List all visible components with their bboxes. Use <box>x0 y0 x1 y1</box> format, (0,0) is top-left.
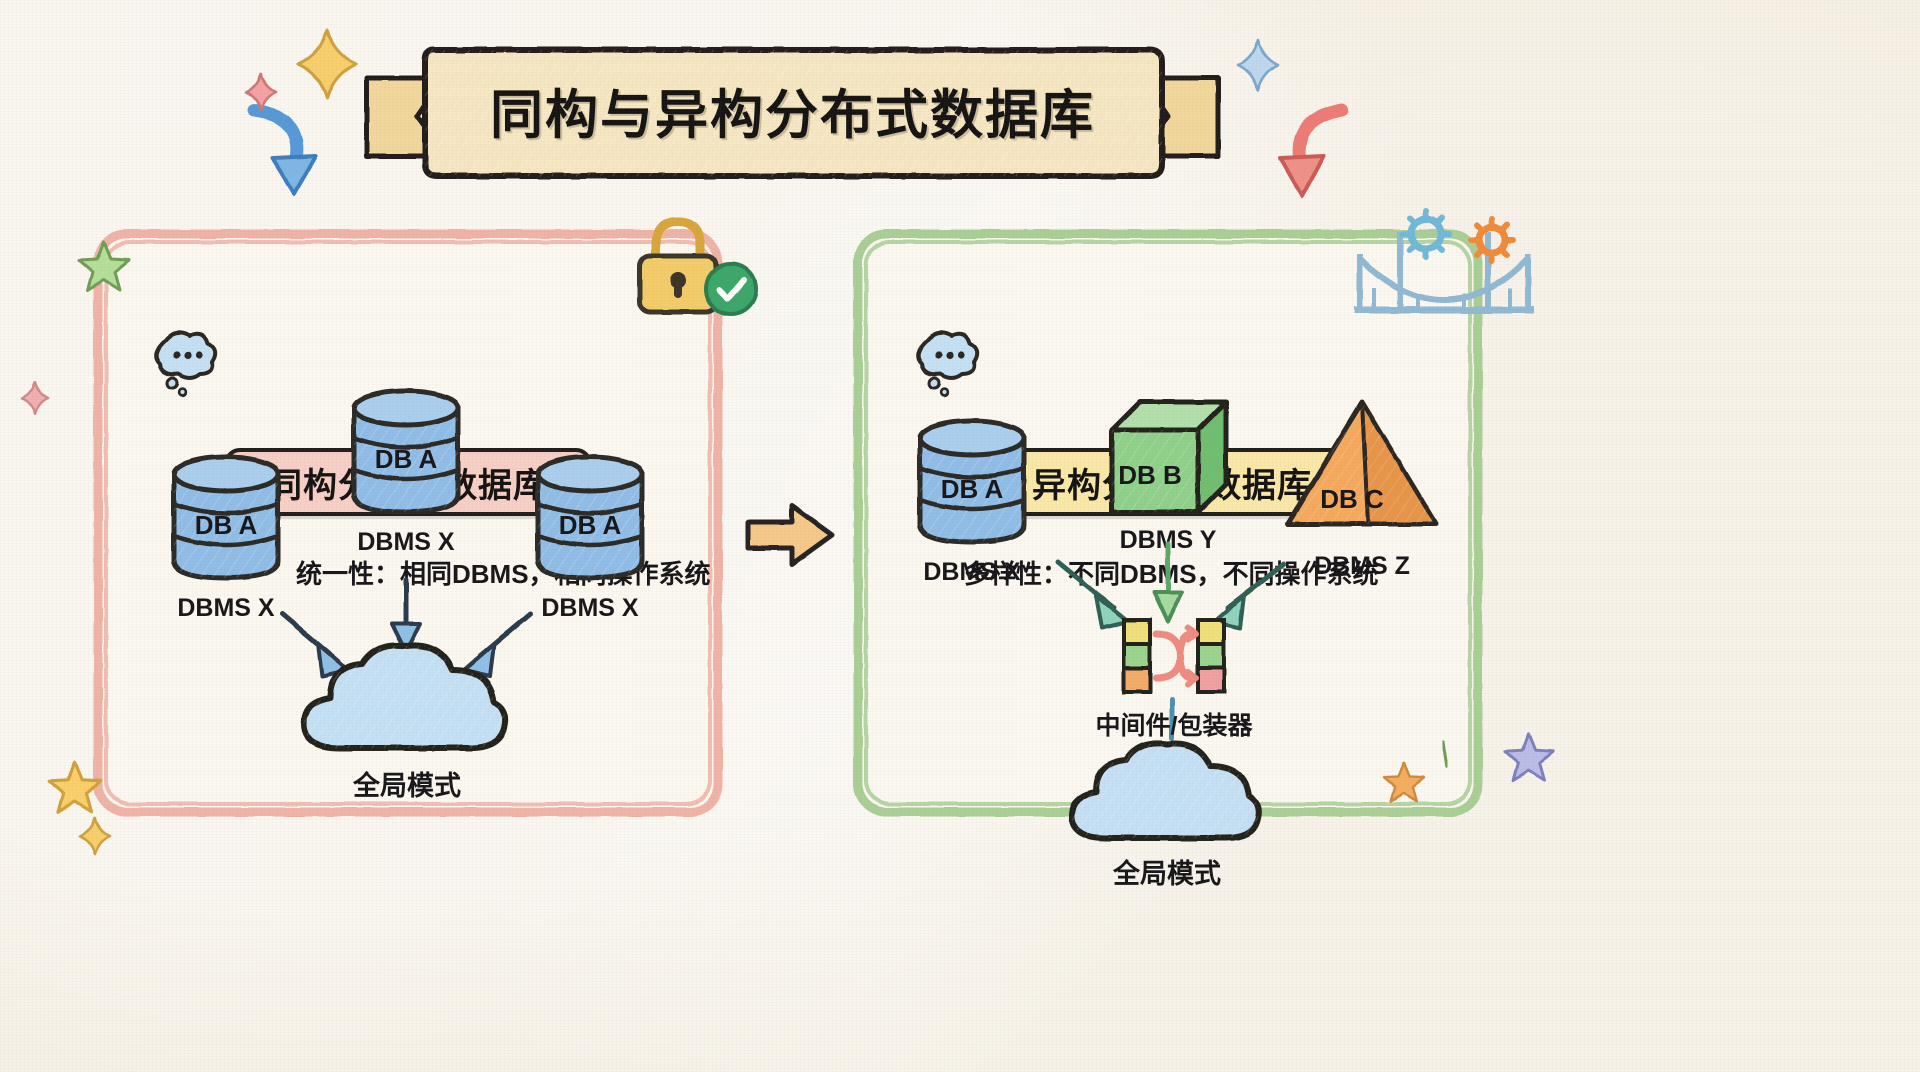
star-green-icon <box>74 236 134 296</box>
transition-arrow-icon <box>742 498 838 572</box>
sparkle-blue-icon <box>1236 38 1280 92</box>
page-title: 同构与异构分布式数据库 <box>355 38 1230 183</box>
star-orange-icon <box>1380 758 1428 806</box>
title-banner: 同构与异构分布式数据库 <box>355 38 1230 183</box>
curved-red-arrow-down-icon <box>1248 100 1358 210</box>
star-purple-icon <box>1500 728 1558 786</box>
panel-heterogeneous: 异构分布式数据库 <box>856 232 1476 812</box>
global-schema-cloud-right: 全局模式 <box>1062 730 1272 850</box>
global-schema-cloud-left: 全局模式 <box>294 632 520 762</box>
infographic-canvas: 同构与异构分布式数据库 <box>0 0 1920 1072</box>
sparkle-yellow-icon <box>296 28 358 100</box>
sparkle-pink-icon <box>244 72 278 112</box>
curved-blue-arrow-down-icon <box>238 96 348 206</box>
sparkle-pink-icon <box>20 380 50 416</box>
cloud-label: 全局模式 <box>1062 852 1272 891</box>
panel-homogeneous: 同构分布式数据库 <box>96 232 716 812</box>
middleware-node: 中间件/包装器 <box>1118 614 1230 700</box>
sparkle-green-icon <box>1430 738 1456 770</box>
cloud-label: 全局模式 <box>294 764 520 803</box>
sparkle-yellow-icon <box>78 816 112 856</box>
star-yellow-icon <box>44 756 106 818</box>
